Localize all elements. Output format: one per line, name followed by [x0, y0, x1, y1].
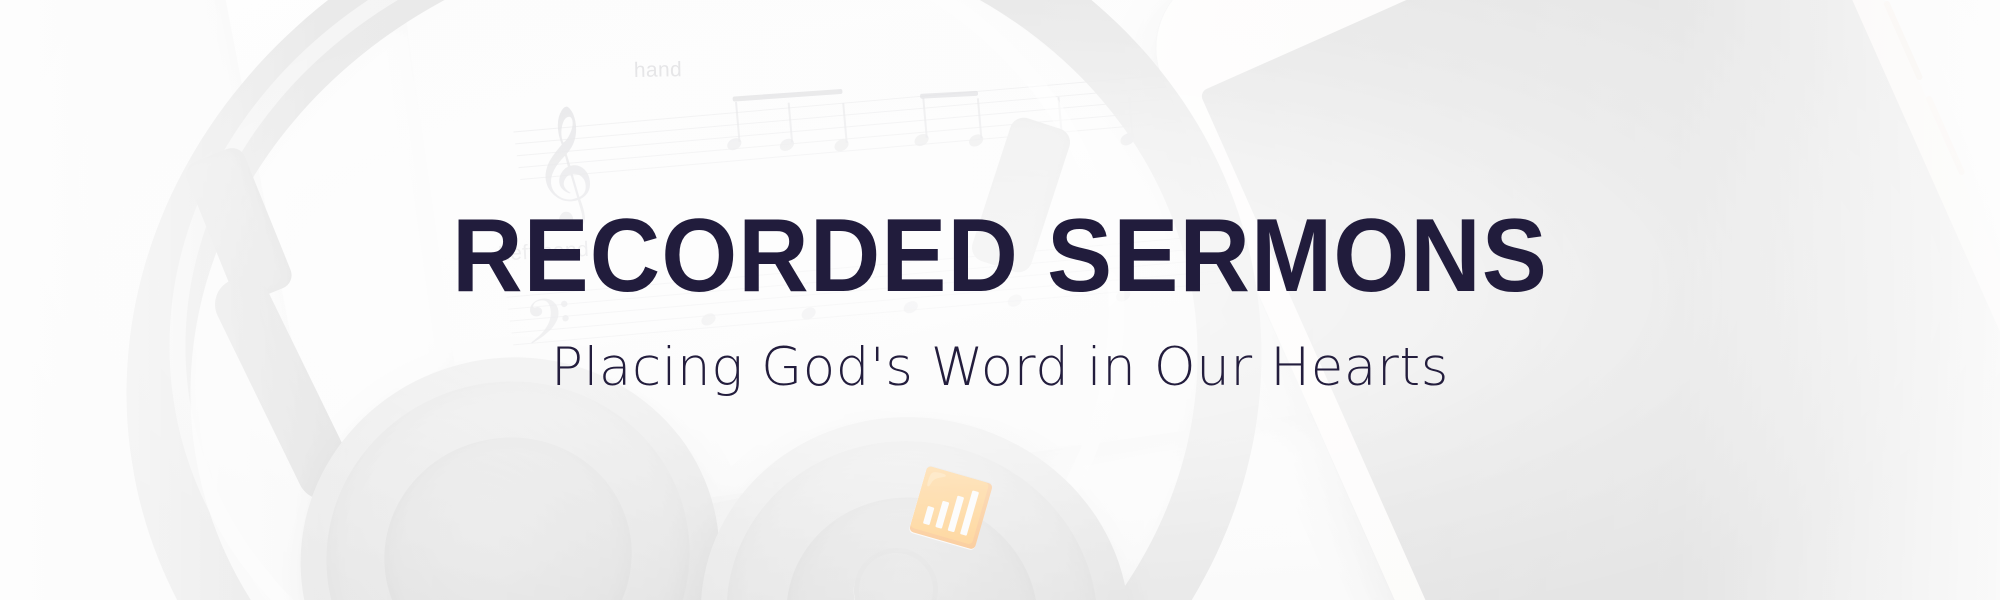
page-title: RECORDED SERMONS: [452, 203, 1548, 309]
recorded-sermons-hero-banner: 𝄞 𝄢 harmonic (one octave): [0, 0, 2000, 600]
page-subtitle: Placing God's Word in Our Hearts: [551, 339, 1449, 397]
hero-content: RECORDED SERMONS Placing God's Word in O…: [0, 0, 2000, 600]
